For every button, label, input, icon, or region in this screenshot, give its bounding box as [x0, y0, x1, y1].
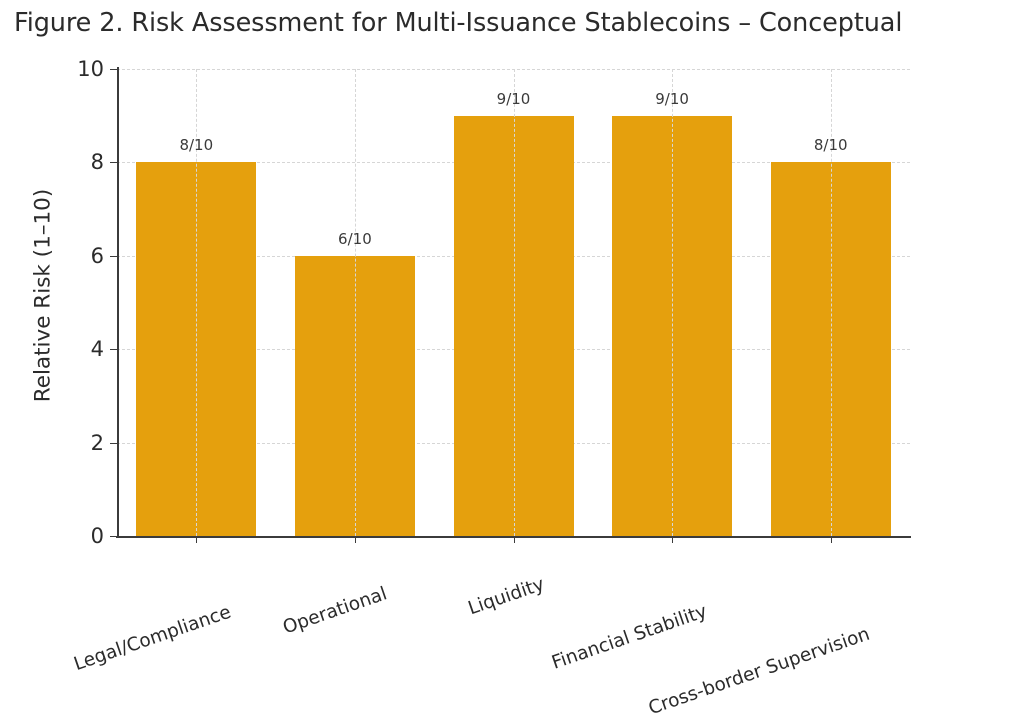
y-tick-label: 4: [74, 339, 104, 360]
x-tick-mark: [355, 536, 356, 543]
figure-container: Figure 2. Risk Assessment for Multi-Issu…: [0, 0, 1024, 646]
y-tick-mark: [110, 256, 117, 257]
bar-value-label: 6/10: [338, 230, 372, 248]
y-tick-mark: [110, 162, 117, 163]
bar-value-label: 8/10: [179, 136, 213, 154]
chart-title: Figure 2. Risk Assessment for Multi-Issu…: [14, 6, 1014, 40]
y-axis-title: Relative Risk (1–10): [31, 56, 56, 536]
gridline-vertical: [355, 69, 356, 536]
bar-value-label: 8/10: [814, 136, 848, 154]
x-tick-mark: [514, 536, 515, 543]
bar-value-label: 9/10: [655, 90, 689, 108]
gridline-vertical: [672, 69, 673, 536]
x-tick-label: Cross-border Supervision: [646, 624, 873, 720]
y-tick-label: 2: [74, 433, 104, 454]
y-axis-spine: [117, 67, 119, 538]
y-tick-mark: [110, 69, 117, 70]
y-tick-label: 8: [74, 152, 104, 173]
y-tick-mark: [110, 536, 117, 537]
y-tick-mark: [110, 349, 117, 350]
y-tick-label: 10: [74, 59, 104, 80]
y-tick-label: 6: [74, 246, 104, 267]
x-tick-label: Operational: [280, 583, 390, 639]
x-tick-label: Liquidity: [465, 574, 547, 621]
x-tick-mark: [831, 536, 832, 543]
x-tick-mark: [672, 536, 673, 543]
x-tick-mark: [196, 536, 197, 543]
gridline-vertical: [514, 69, 515, 536]
plot-area: 8/106/109/109/108/10: [117, 69, 910, 536]
y-tick-mark: [110, 443, 117, 444]
y-tick-label: 0: [74, 526, 104, 547]
x-tick-label: Legal/Compliance: [72, 602, 235, 676]
bar-value-label: 9/10: [497, 90, 531, 108]
x-tick-label: Financial Stability: [549, 601, 710, 675]
